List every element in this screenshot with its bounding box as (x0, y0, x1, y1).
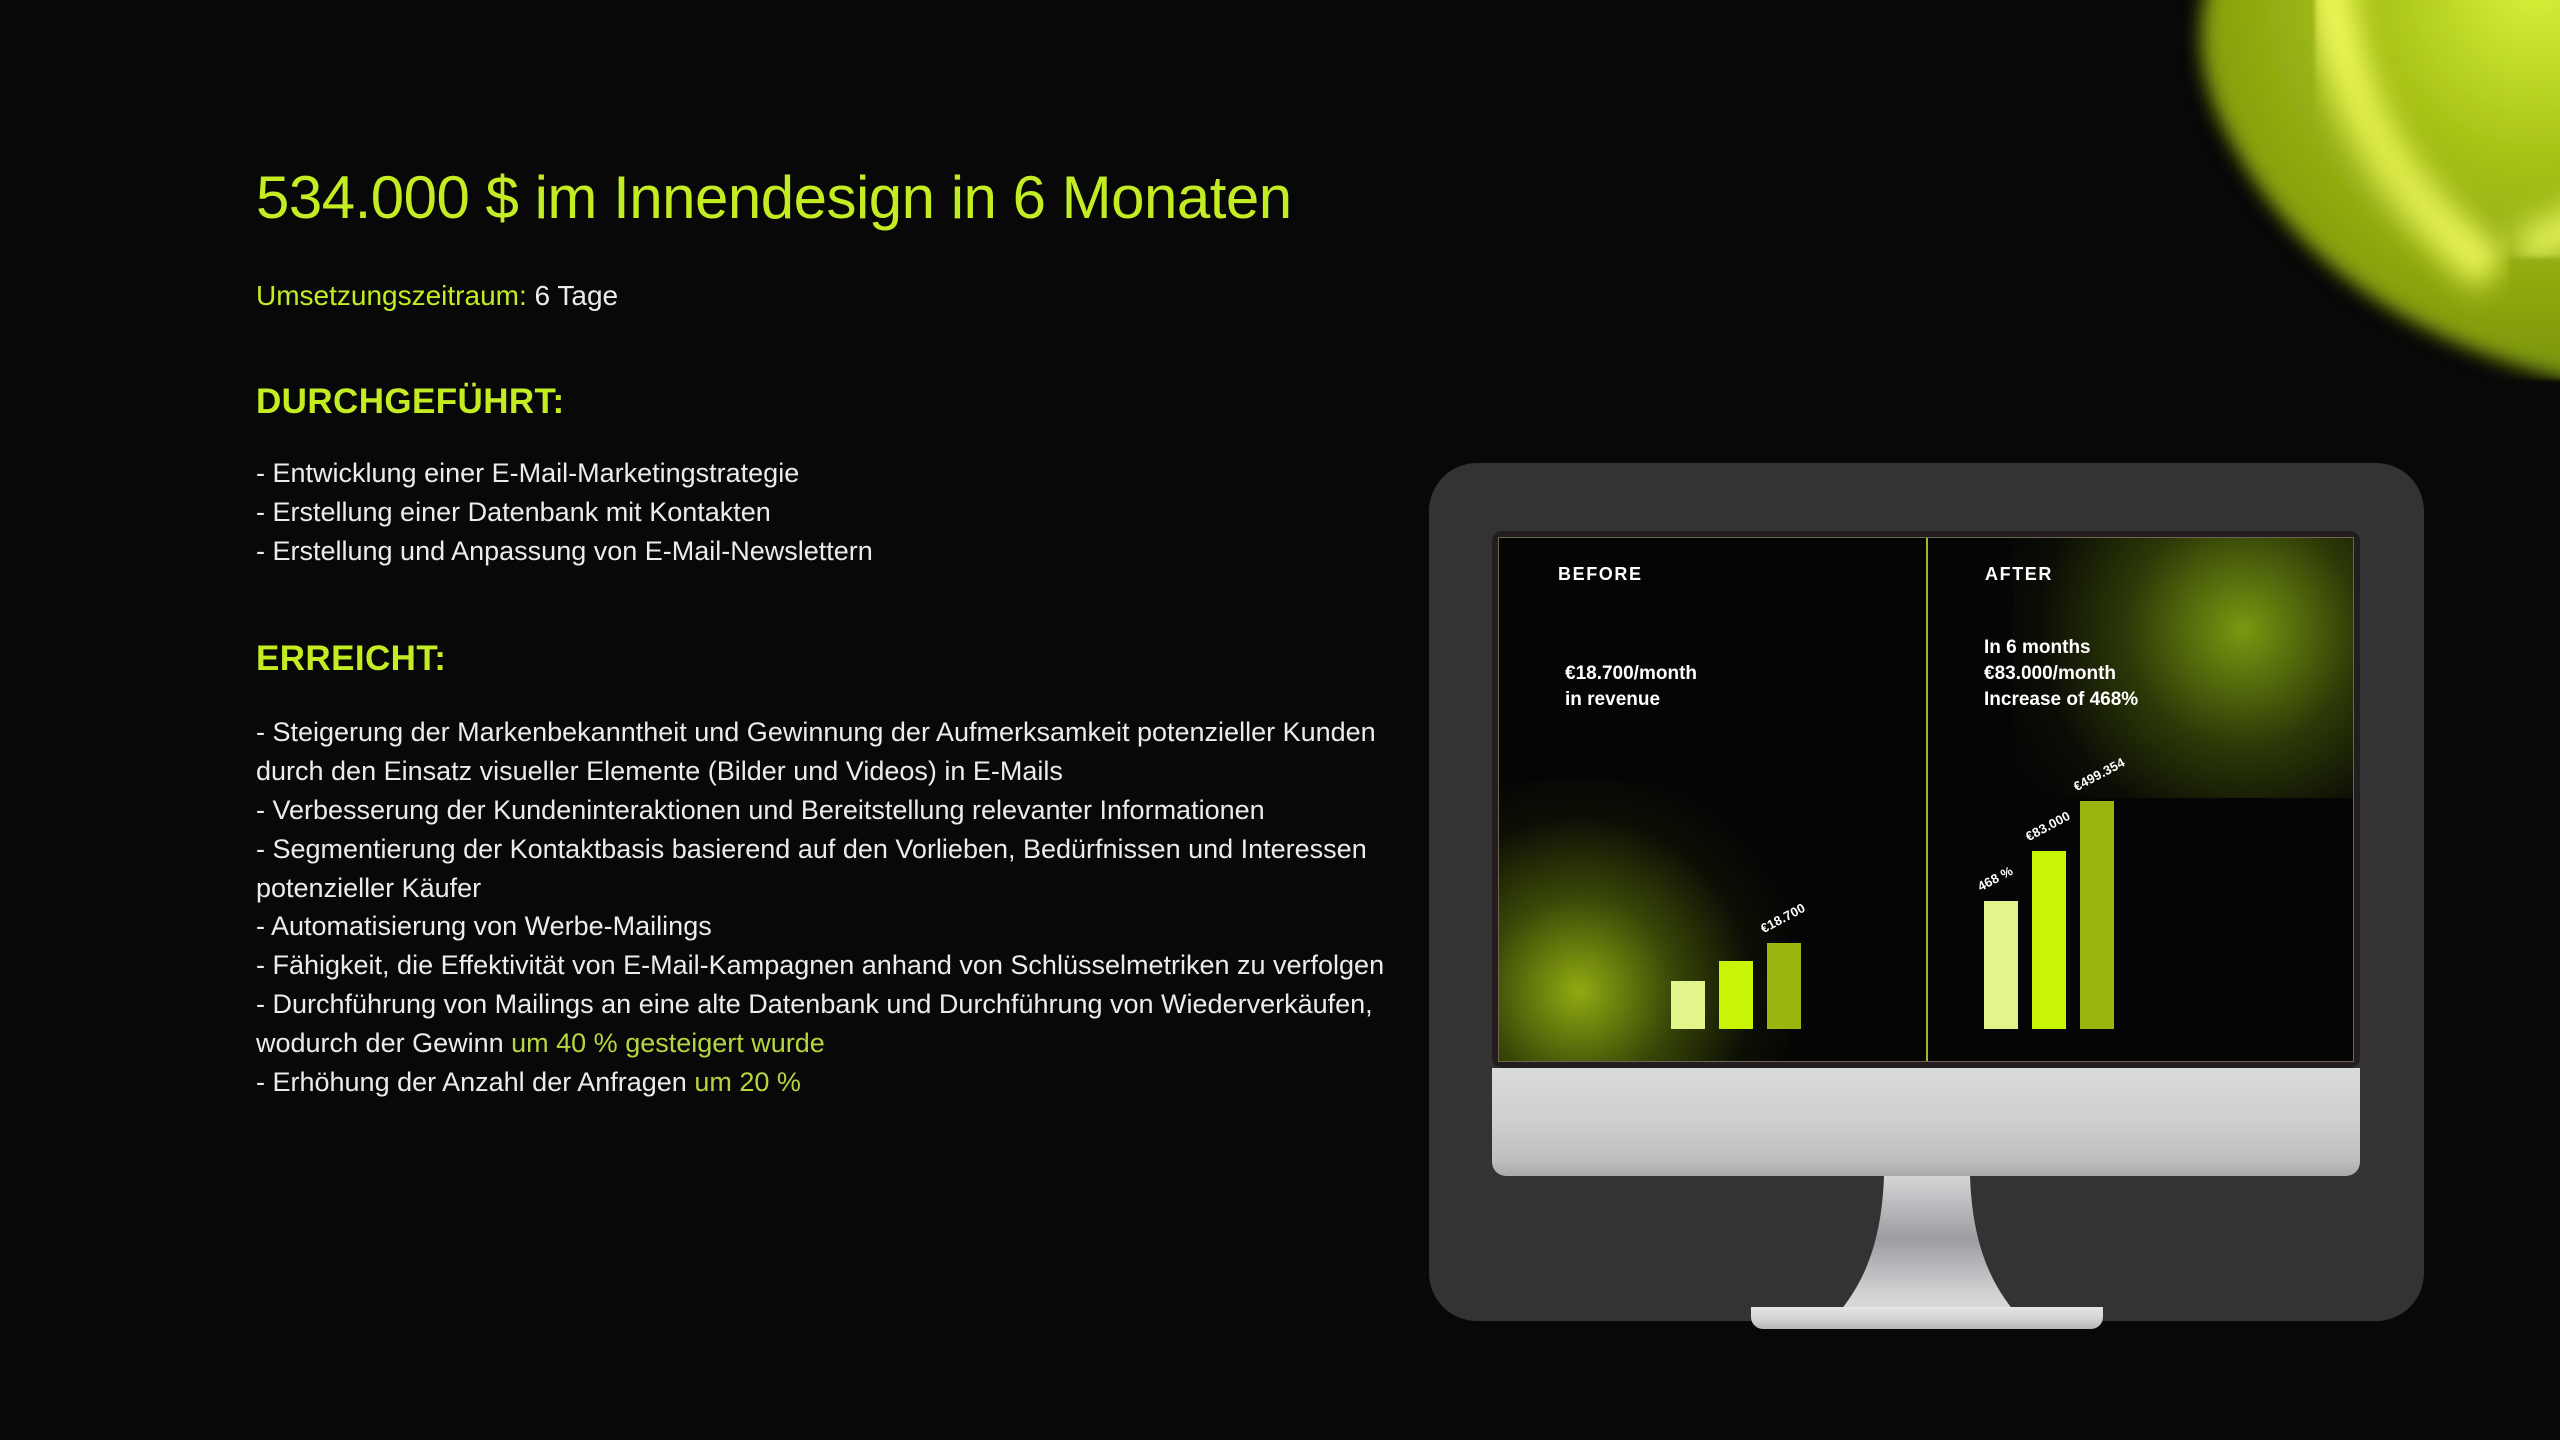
list-item: - Verbesserung der Kundeninteraktionen u… (256, 791, 1436, 830)
after-note: In 6 months €83.000/month Increase of 46… (1984, 635, 2138, 714)
section-heading-done: DURCHGEFÜHRT: (256, 382, 1436, 422)
list-item: - Erstellung und Anpassung von E-Mail-Ne… (256, 532, 1436, 571)
list-item-requests: - Erhöhung der Anzahl der Anfragen um 20… (256, 1063, 1436, 1102)
requests-highlight: um 20 % (694, 1067, 801, 1097)
list-item: - Fähigkeit, die Effektivität von E-Mail… (256, 946, 1436, 985)
after-bar-1: 468 % (1984, 901, 2018, 1029)
decorative-green-blob (2100, 0, 2560, 380)
before-bar-3: €18.700 (1767, 943, 1801, 1029)
before-bar-2 (1719, 961, 1753, 1029)
done-bullet-list: - Entwicklung einer E-Mail-Marketingstra… (256, 454, 1436, 571)
before-bar-2-rect (1719, 961, 1753, 1029)
after-bar-3: €499.354 (2080, 801, 2114, 1029)
after-bar-chart: 468 % €83.000 €499.354 (1984, 801, 2114, 1029)
timeline-value: 6 Tage (535, 280, 619, 311)
before-bar-1 (1671, 981, 1705, 1029)
before-tag: BEFORE (1558, 564, 1643, 585)
list-item: - Automatisierung von Werbe-Mailings (256, 907, 1436, 946)
before-bar-3-label: €18.700 (1758, 900, 1808, 936)
before-note: €18.700/month in revenue (1565, 661, 1697, 713)
after-bar-2-rect (2032, 851, 2066, 1029)
after-bar-3-rect (2080, 801, 2114, 1029)
before-bar-1-rect (1671, 981, 1705, 1029)
after-bar-3-label: €499.354 (2071, 755, 2127, 794)
monitor-stand-foot (1751, 1307, 2103, 1329)
slide-content: 534.000 $ im Innendesign in 6 Monaten Um… (256, 166, 1436, 1102)
after-bar-1-rect (1984, 901, 2018, 1029)
list-item: - Steigerung der Markenbekanntheit und G… (256, 713, 1436, 791)
panel-after: AFTER In 6 months €83.000/month Increase… (1926, 538, 2353, 1061)
list-item: - Entwicklung einer E-Mail-Marketingstra… (256, 454, 1436, 493)
monitor-mockup: BEFORE €18.700/month in revenue €18.700 (1429, 463, 2424, 1321)
timeline-label: Umsetzungszeitraum: (256, 280, 527, 311)
section-heading-achieved: ERREICHT: (256, 639, 1436, 679)
after-bar-2-label: €83.000 (2023, 808, 2073, 844)
panel-before: BEFORE €18.700/month in revenue €18.700 (1499, 538, 1926, 1061)
monitor-chin (1492, 1068, 2360, 1176)
monitor-bezel: BEFORE €18.700/month in revenue €18.700 (1492, 531, 2360, 1068)
before-bar-chart: €18.700 (1671, 943, 1801, 1029)
list-item-profit: - Durchführung von Mailings an eine alte… (256, 985, 1436, 1063)
after-bar-2: €83.000 (2032, 851, 2066, 1029)
after-tag: AFTER (1985, 564, 2053, 585)
monitor-screen: BEFORE €18.700/month in revenue €18.700 (1498, 537, 2354, 1062)
after-bar-1-label: 468 % (1975, 863, 2015, 894)
list-item: - Segmentierung der Kontaktbasis basiere… (256, 830, 1436, 908)
requests-text: - Erhöhung der Anzahl der Anfragen (256, 1067, 694, 1097)
page-title: 534.000 $ im Innendesign in 6 Monaten (256, 166, 1436, 231)
list-item: - Erstellung einer Datenbank mit Kontakt… (256, 493, 1436, 532)
achieved-bullet-list: - Steigerung der Markenbekanntheit und G… (256, 713, 1436, 1102)
profit-highlight: um 40 % gesteigert wurde (511, 1028, 825, 1058)
before-bar-3-rect (1767, 943, 1801, 1029)
timeline-subtitle: Umsetzungszeitraum: 6 Tage (256, 279, 1436, 313)
